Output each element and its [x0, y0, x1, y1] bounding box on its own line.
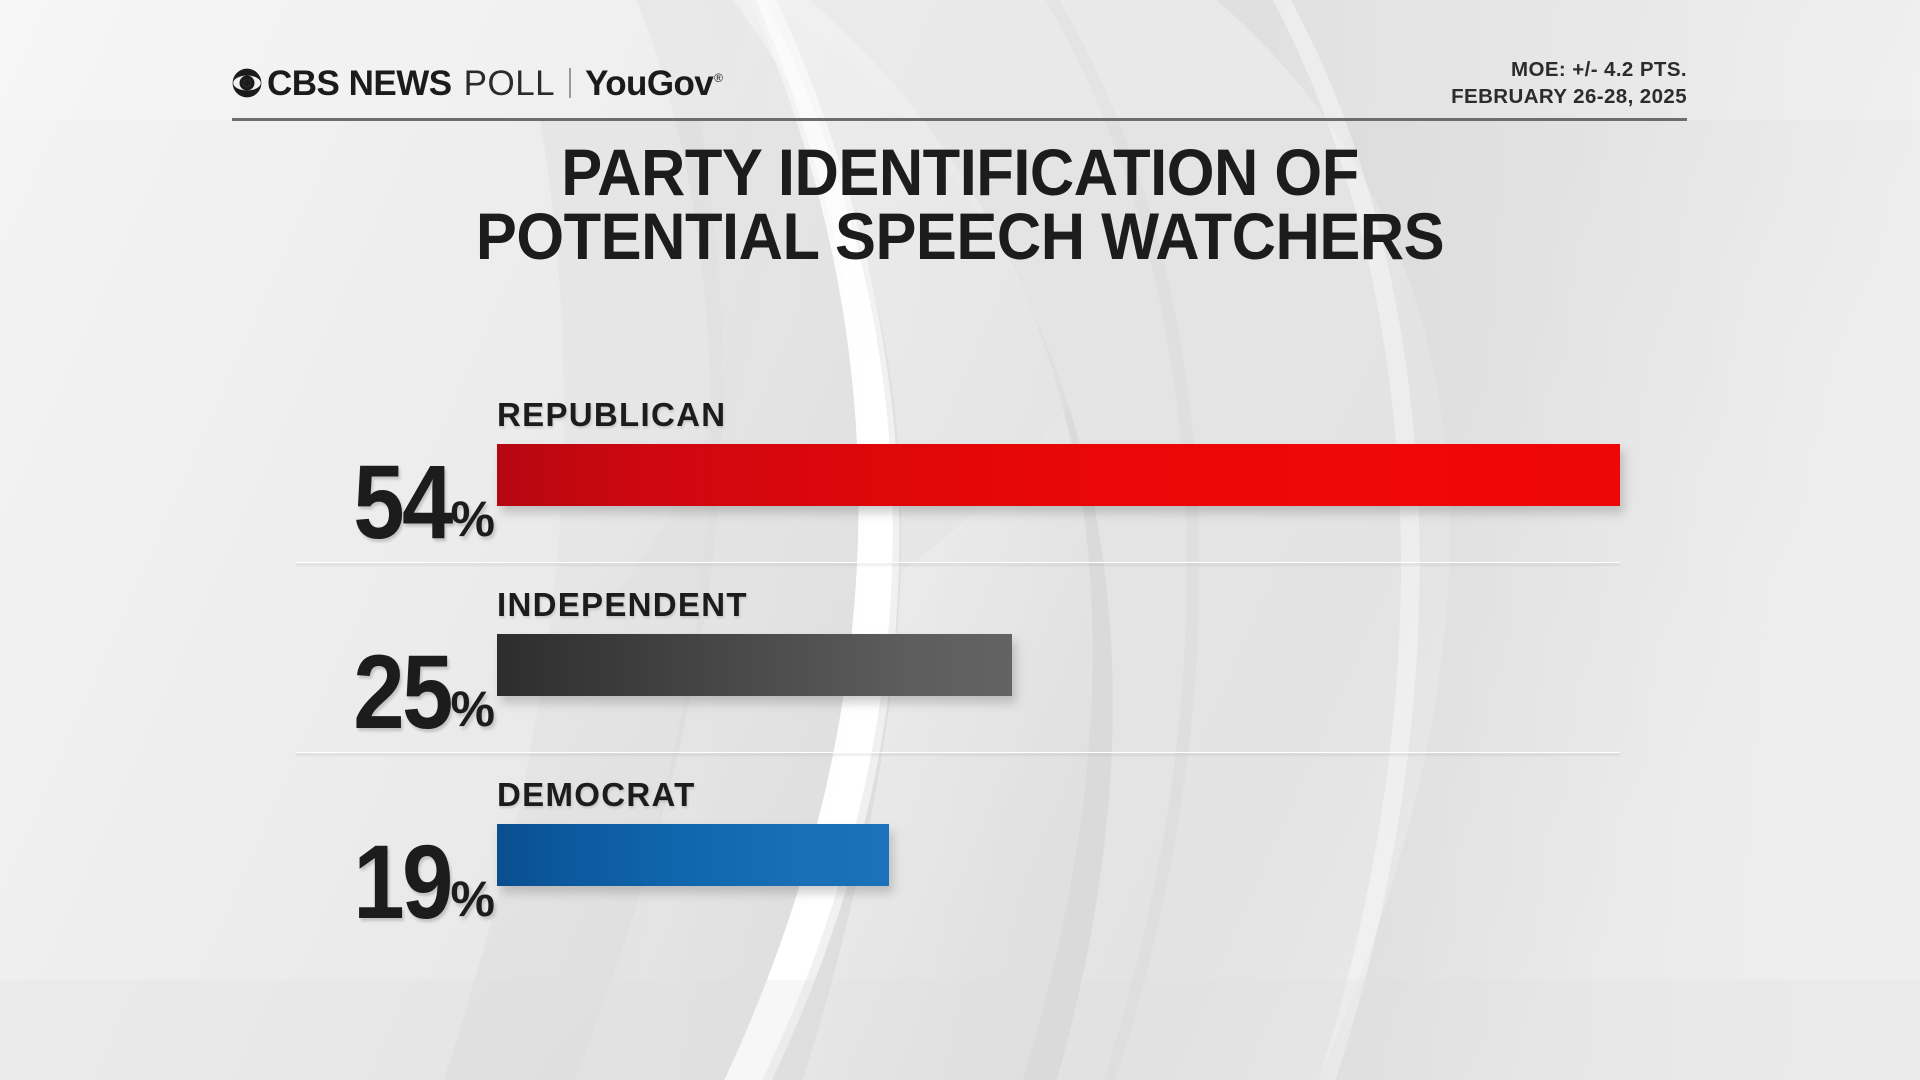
- value-label: 54%: [296, 460, 494, 546]
- category-label: INDEPENDENT: [497, 586, 748, 624]
- field-dates-text: FEBRUARY 26-28, 2025: [1451, 83, 1687, 110]
- logo-cbs-news-text: CBS NEWS: [267, 66, 452, 101]
- bar-chart: 54% REPUBLICAN 25% INDEPENDENT 19% DEMOC…: [0, 392, 1920, 962]
- value-label: 25%: [296, 650, 494, 736]
- row-divider: [296, 562, 1620, 563]
- logo-yougov-word: YouGov: [585, 64, 713, 103]
- logo-poll-text: POLL: [464, 66, 556, 101]
- bar-republican: [497, 444, 1620, 506]
- percent-symbol: %: [451, 499, 494, 540]
- value-number: 19: [353, 840, 451, 926]
- category-label: DEMOCRAT: [497, 776, 696, 814]
- row-divider: [296, 752, 1620, 753]
- poll-metadata: MOE: +/- 4.2 PTS. FEBRUARY 26-28, 2025: [1451, 56, 1687, 111]
- page-title-line-1: PARTY IDENTIFICATION OF: [67, 140, 1853, 204]
- logo-yougov-text: YouGov®: [585, 66, 722, 101]
- value-number: 25: [353, 650, 451, 736]
- header: CBS NEWS POLL YouGov® MOE: +/- 4.2 PTS. …: [232, 60, 1687, 116]
- chart-row: 19% DEMOCRAT: [0, 772, 1920, 962]
- logo-divider: [569, 68, 571, 98]
- value-label: 19%: [296, 840, 494, 926]
- header-divider-rule: [232, 118, 1687, 121]
- category-label: REPUBLICAN: [497, 396, 726, 434]
- bar-independent: [497, 634, 1012, 696]
- bar-democrat: [497, 824, 889, 886]
- chart-row: 54% REPUBLICAN: [0, 392, 1920, 582]
- page-title-line-2: POTENTIAL SPEECH WATCHERS: [67, 204, 1853, 268]
- percent-symbol: %: [451, 689, 494, 730]
- page-title: PARTY IDENTIFICATION OF POTENTIAL SPEECH…: [67, 140, 1853, 268]
- percent-symbol: %: [451, 879, 494, 920]
- chart-row: 25% INDEPENDENT: [0, 582, 1920, 772]
- margin-of-error-text: MOE: +/- 4.2 PTS.: [1451, 56, 1687, 83]
- cbs-eye-icon: [232, 68, 262, 98]
- cbs-news-poll-yougov-logo: CBS NEWS POLL YouGov®: [232, 62, 722, 104]
- poll-graphic: CBS NEWS POLL YouGov® MOE: +/- 4.2 PTS. …: [0, 0, 1920, 1080]
- value-number: 54: [353, 460, 451, 546]
- registered-trademark-icon: ®: [714, 71, 722, 85]
